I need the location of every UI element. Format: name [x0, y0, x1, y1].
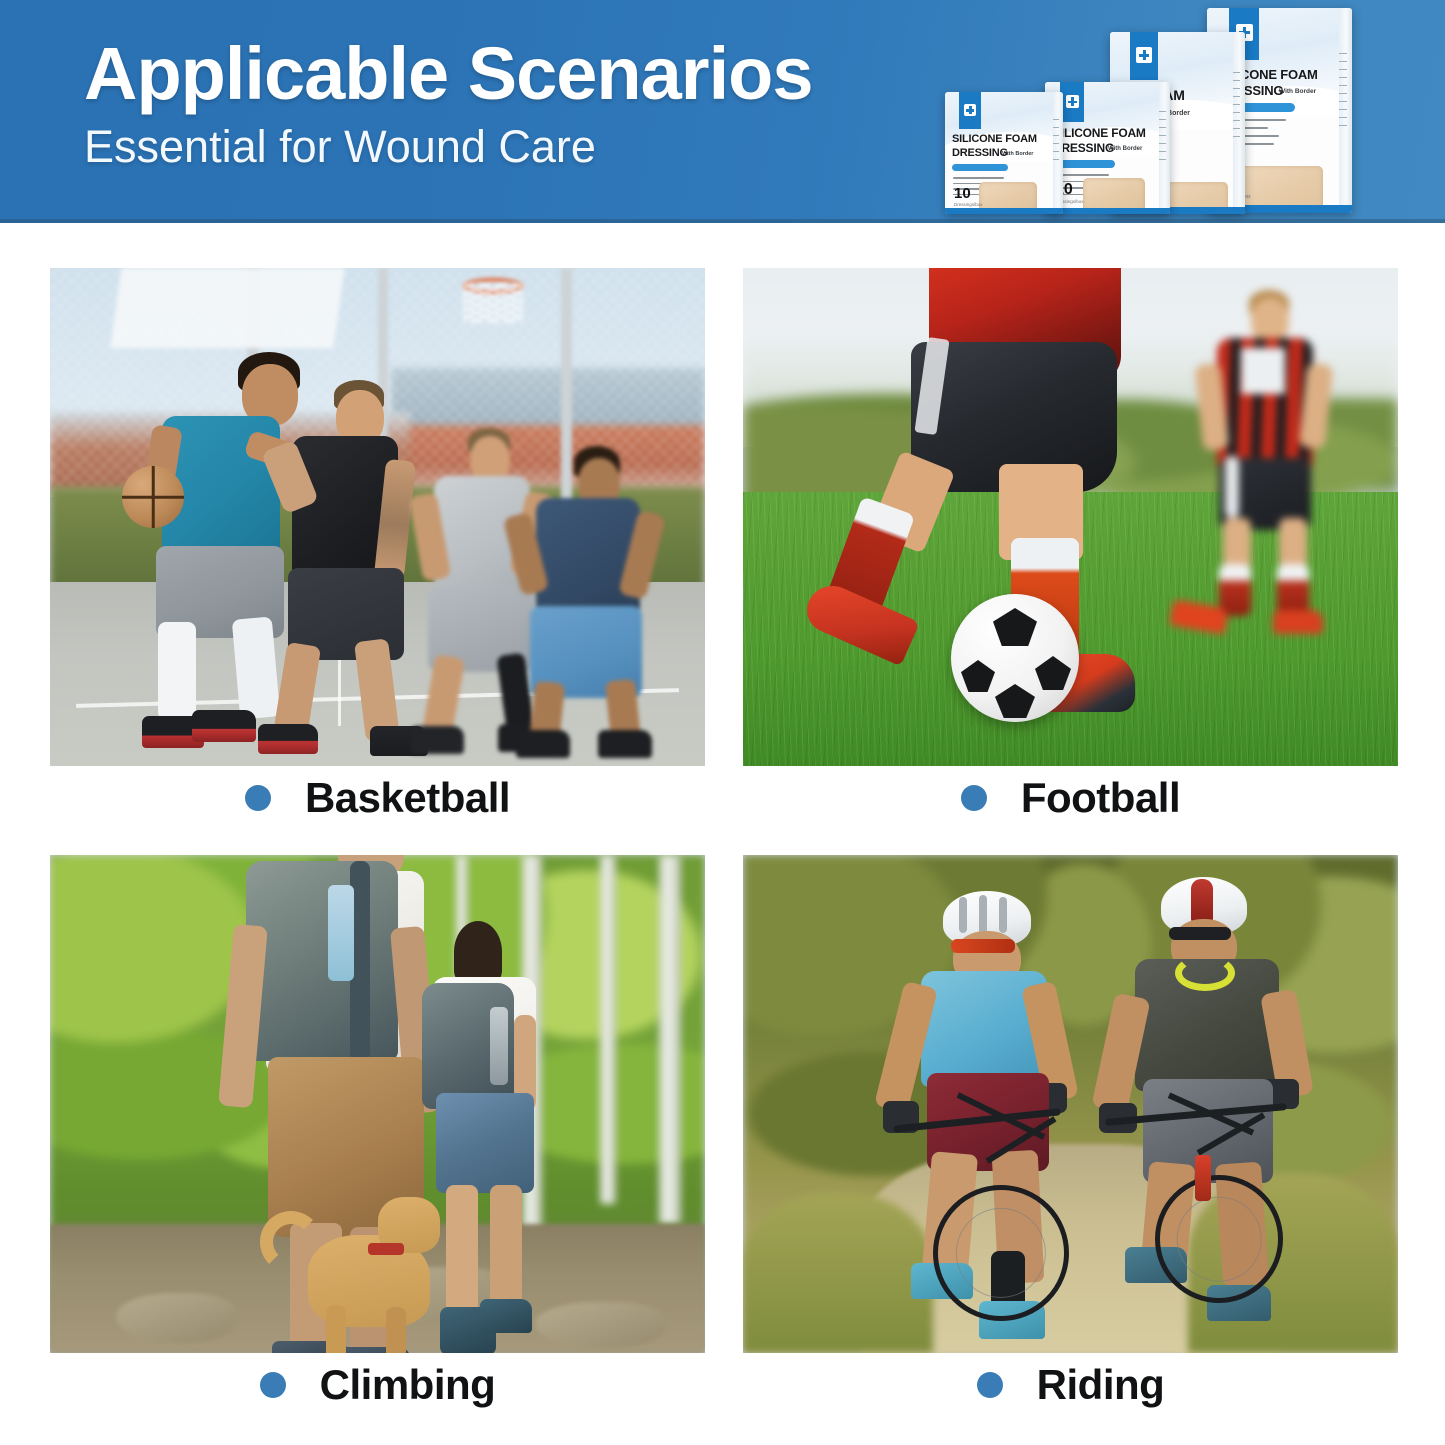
box-size-badge	[952, 164, 1008, 171]
hoop-net	[463, 283, 523, 323]
box-title-suffix: With Border	[1002, 151, 1033, 157]
product-box-small-left: SILICONE FOAM DRESSING With Border 10 Dr…	[945, 92, 1063, 214]
leg	[490, 1185, 522, 1313]
cell-label: Climbing	[320, 1361, 496, 1409]
box-ruler-marks	[1053, 119, 1063, 167]
box-title-suffix: With Border	[1279, 88, 1316, 95]
cell-football[interactable]: Football	[743, 268, 1398, 830]
hair	[454, 921, 502, 983]
box-base-stripe	[945, 208, 1063, 214]
water-bottle	[490, 1007, 508, 1085]
box-title-suffix: With Border	[1108, 146, 1142, 152]
box-title-line2: DRESSING	[952, 148, 1008, 159]
box-title-line1: SILICONE FOAM	[1053, 127, 1146, 139]
box-quantity-sub: Dressings/box	[954, 202, 983, 207]
water-bottle	[328, 885, 354, 981]
box-side-panel	[1233, 32, 1245, 214]
bottle-red	[1195, 1155, 1211, 1201]
scenario-grid: Basketball	[0, 223, 1445, 1445]
product-box-small-mid: SILICONE FOAM DRESSING With Border 10 Dr…	[1045, 82, 1170, 214]
shoe	[258, 724, 318, 754]
dog-tail	[260, 1211, 322, 1273]
bullet-dot-icon	[961, 785, 987, 811]
box-side-panel	[1339, 8, 1352, 213]
helmet-vent	[999, 897, 1007, 933]
ball-pentagon	[993, 608, 1037, 646]
helmet-vent	[959, 897, 967, 933]
cell-basketball[interactable]: Basketball	[50, 268, 705, 830]
cell-climbing[interactable]: Climbing	[50, 855, 705, 1417]
basketball	[122, 466, 184, 528]
leg	[446, 1185, 478, 1325]
helmet-vent	[979, 895, 987, 935]
box-quantity: 10	[954, 185, 971, 202]
backpack-large	[246, 861, 398, 1061]
riding-photo	[743, 855, 1398, 1353]
bicycle-wheel	[933, 1185, 1069, 1321]
sock	[1219, 564, 1251, 616]
jersey-panel	[1241, 348, 1285, 394]
football-photo	[743, 268, 1398, 766]
box-title-line1: SILICONE FOAM	[952, 134, 1037, 145]
dog-leg	[386, 1307, 406, 1353]
bullet-dot-icon	[260, 1372, 286, 1398]
shoe	[410, 726, 464, 754]
shorts-stripe	[1225, 456, 1239, 518]
denim-shorts	[436, 1093, 534, 1193]
page-title: Applicable Scenarios	[84, 36, 813, 111]
shoe	[598, 730, 652, 758]
soccer-ball	[951, 594, 1079, 722]
box-side-panel	[1159, 82, 1170, 214]
birch-trunk	[659, 855, 681, 1224]
sock	[1277, 564, 1309, 616]
dog-collar	[368, 1243, 404, 1255]
sunglasses	[1169, 927, 1231, 940]
torso-jersey	[536, 498, 640, 620]
helmet-stripe	[1191, 879, 1213, 923]
bullet-dot-icon	[245, 785, 271, 811]
page-subtitle: Essential for Wound Care	[84, 123, 813, 170]
medical-cross-icon	[1136, 47, 1152, 63]
box-base-stripe	[1045, 208, 1170, 214]
ball-pentagon	[961, 660, 995, 692]
ball-pentagon	[1035, 656, 1071, 690]
trailside-grass	[743, 1193, 933, 1353]
caption-climbing: Climbing	[50, 1353, 705, 1417]
backboard	[110, 268, 344, 348]
shoe	[192, 710, 256, 742]
medical-cross-icon	[964, 104, 976, 116]
shoe	[516, 730, 570, 758]
header-text-block: Applicable Scenarios Essential for Wound…	[84, 36, 813, 171]
cell-riding[interactable]: Riding	[743, 855, 1398, 1417]
leg-sleeve	[232, 616, 281, 719]
sunglasses	[951, 939, 1015, 953]
caption-basketball: Basketball	[50, 766, 705, 830]
climbing-photo	[50, 855, 705, 1353]
header-banner: Applicable Scenarios Essential for Wound…	[0, 0, 1445, 223]
cell-label: Basketball	[305, 774, 510, 822]
box-brand-tab	[959, 92, 981, 129]
basketball-photo	[50, 268, 705, 766]
product-package-group: SILICONE FOAM DRESSING With Border 5 Dre…	[935, 0, 1405, 223]
leg-sleeve	[158, 622, 196, 720]
medical-cross-icon	[1066, 95, 1079, 108]
cell-label: Riding	[1037, 1361, 1165, 1409]
caption-riding: Riding	[743, 1353, 1398, 1417]
collar-yellow	[1175, 955, 1235, 991]
bicycle-wheel	[1155, 1175, 1283, 1303]
box-brand-tab	[1060, 82, 1084, 122]
box-ruler-marks	[1233, 72, 1245, 144]
box-side-panel	[1053, 92, 1063, 214]
ball-pentagon	[995, 684, 1035, 718]
bullet-dot-icon	[977, 1372, 1003, 1398]
box-ruler-marks	[1339, 53, 1352, 133]
hiking-shoe	[480, 1299, 532, 1333]
birch-trunk	[600, 855, 616, 1204]
dog-leg	[326, 1305, 346, 1353]
cell-label: Football	[1021, 774, 1180, 822]
box-brand-tab	[1130, 32, 1158, 80]
caption-football: Football	[743, 766, 1398, 830]
box-ruler-marks	[1159, 111, 1170, 167]
boot	[1273, 610, 1323, 634]
